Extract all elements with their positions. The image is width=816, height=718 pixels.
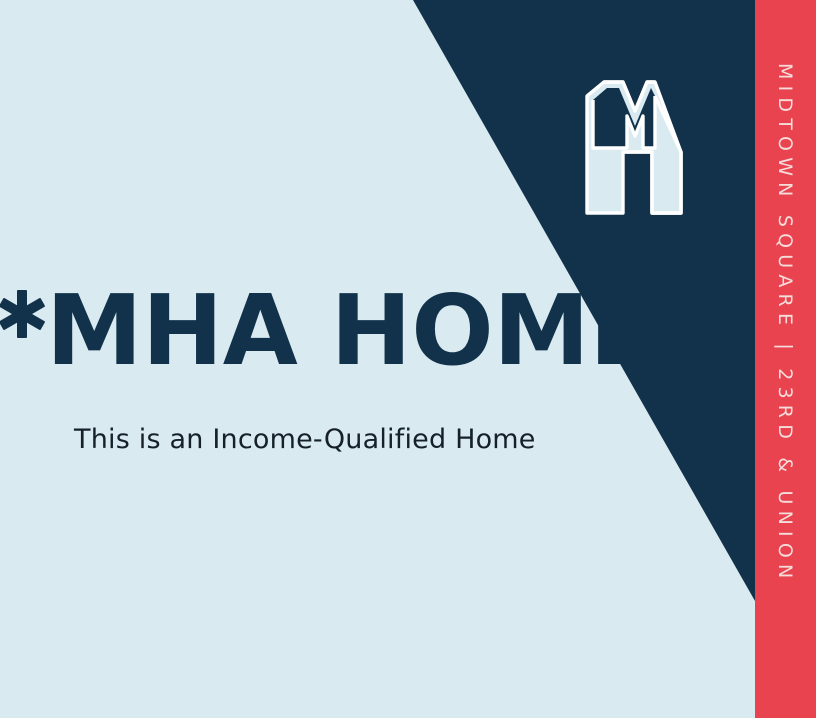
page-subtitle: This is an Income-Qualified Home: [74, 424, 536, 455]
poster-canvas: MHA HOME This is an Income-Qualified Hom…: [0, 0, 816, 718]
headline-block: MHA HOME: [0, 282, 620, 379]
asterisk-icon: [0, 286, 50, 342]
side-band-label: MIDTOWN SQUARE | 23RD & UNION: [755, 0, 816, 718]
page-title: MHA HOME: [0, 282, 620, 379]
midtown-square-house-logo: [583, 78, 689, 220]
side-band: MIDTOWN SQUARE | 23RD & UNION: [755, 0, 816, 718]
page-title-text: MHA HOME: [46, 282, 655, 379]
